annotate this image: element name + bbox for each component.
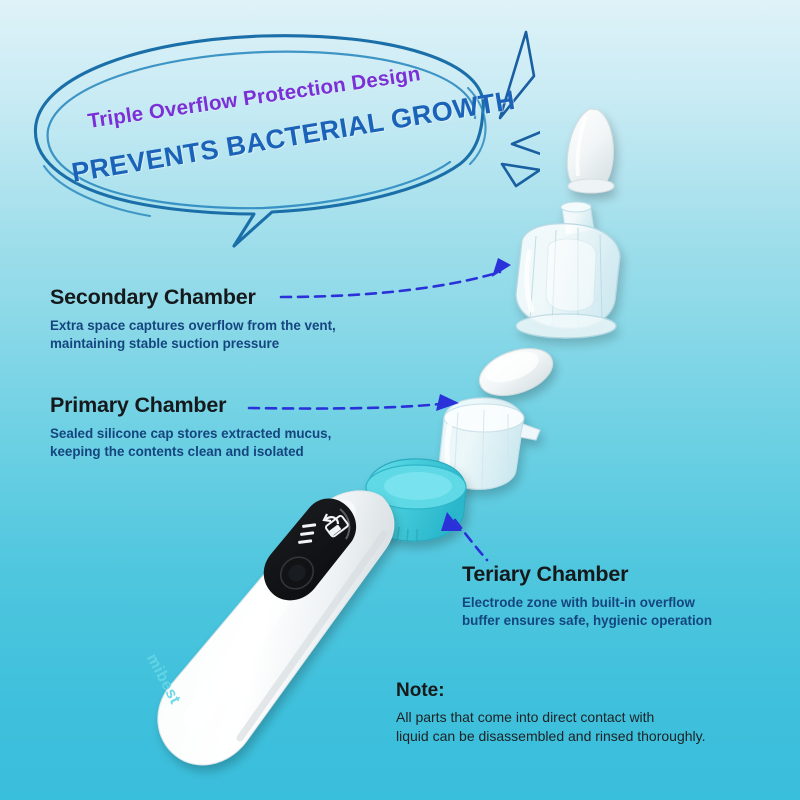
label-desc-line: keeping the contents clean and isolated — [50, 443, 331, 461]
device-body-white — [158, 491, 394, 765]
note-title: Note: — [396, 680, 706, 702]
label-block-tertiary-chamber: Teriary Chamber Electrode zone with buil… — [462, 562, 712, 630]
label-desc-line: Electrode zone with built-in overflow — [462, 594, 712, 612]
label-desc-line: buffer ensures safe, hygienic operation — [462, 612, 712, 630]
label-block-primary-chamber: Primary Chamber Sealed silicone cap stor… — [50, 393, 331, 461]
silicone-cap-disc — [473, 340, 559, 404]
label-title-secondary: Secondary Chamber — [50, 285, 336, 310]
label-title-tertiary: Teriary Chamber — [462, 562, 712, 587]
label-title-primary: Primary Chamber — [50, 393, 331, 418]
note-body: All parts that come into direct contact … — [396, 708, 706, 747]
infographic-canvas: Triple Overflow Protection Design PREVEN… — [0, 0, 800, 800]
note-body-line: liquid can be disassembled and rinsed th… — [396, 727, 706, 746]
label-desc-line: Sealed silicone cap stores extracted muc… — [50, 425, 331, 443]
label-desc-line: Extra space captures overflow from the v… — [50, 317, 336, 335]
label-desc-secondary: Extra space captures overflow from the v… — [50, 317, 336, 353]
note-block: Note: All parts that come into direct co… — [396, 680, 706, 747]
label-desc-primary: Sealed silicone cap stores extracted muc… — [50, 425, 331, 461]
label-desc-tertiary: Electrode zone with built-in overflow bu… — [462, 594, 712, 630]
label-desc-line: maintaining stable suction pressure — [50, 335, 336, 353]
silicone-nozzle-tip — [567, 109, 614, 193]
note-body-line: All parts that come into direct contact … — [396, 708, 706, 727]
secondary-chamber-transparent — [516, 202, 620, 338]
label-block-secondary-chamber: Secondary Chamber Extra space captures o… — [50, 285, 336, 353]
